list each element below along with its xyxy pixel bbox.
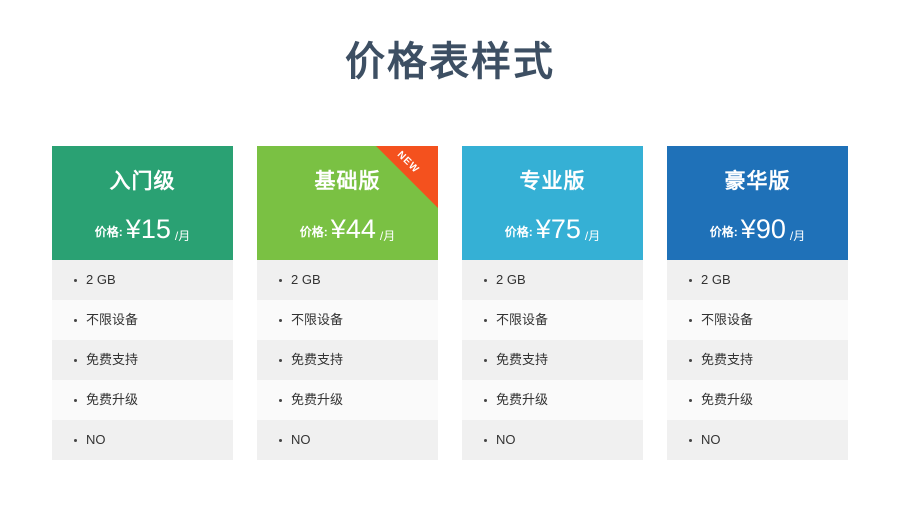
feature-label: 不限设备 xyxy=(86,312,138,327)
bullet-icon xyxy=(279,279,282,282)
price-amount: ¥75 xyxy=(536,214,581,244)
feature-label: NO xyxy=(496,432,516,447)
price-period: /月 xyxy=(585,229,600,243)
price-period: /月 xyxy=(380,229,395,243)
feature-item: 免费升级 xyxy=(52,380,233,420)
feature-label: 2 GB xyxy=(496,272,526,287)
price-amount: ¥15 xyxy=(126,214,171,244)
bullet-icon xyxy=(279,359,282,362)
bullet-icon xyxy=(689,439,692,442)
price-label: 价格: xyxy=(505,225,533,239)
feature-label: NO xyxy=(701,432,721,447)
feature-list: 2 GB 不限设备 免费支持 免费升级 NO xyxy=(462,260,643,460)
feature-label: 免费支持 xyxy=(496,352,548,367)
feature-item: NO xyxy=(667,420,848,460)
bullet-icon xyxy=(279,399,282,402)
price-label: 价格: xyxy=(300,225,328,239)
feature-label: 免费升级 xyxy=(496,392,548,407)
feature-item: 不限设备 xyxy=(52,300,233,340)
plan-price: 价格:¥75/月 xyxy=(462,214,643,245)
pricing-card-basic[interactable]: NEW 基础版 价格:¥44/月 2 GB 不限设备 免费支持 免费升级 NO xyxy=(257,146,438,460)
feature-item: 不限设备 xyxy=(667,300,848,340)
bullet-icon xyxy=(74,359,77,362)
feature-item: 不限设备 xyxy=(257,300,438,340)
bullet-icon xyxy=(689,319,692,322)
bullet-icon xyxy=(74,319,77,322)
bullet-icon xyxy=(74,279,77,282)
bullet-icon xyxy=(689,359,692,362)
feature-label: 免费支持 xyxy=(701,352,753,367)
bullet-icon xyxy=(484,319,487,322)
feature-item: 免费升级 xyxy=(667,380,848,420)
feature-label: 免费升级 xyxy=(701,392,753,407)
card-header: NEW 基础版 价格:¥44/月 xyxy=(257,146,438,260)
price-label: 价格: xyxy=(710,225,738,239)
feature-item: NO xyxy=(257,420,438,460)
bullet-icon xyxy=(484,279,487,282)
feature-label: NO xyxy=(86,432,106,447)
feature-label: 不限设备 xyxy=(291,312,343,327)
feature-item: 2 GB xyxy=(462,260,643,300)
price-amount: ¥90 xyxy=(741,214,786,244)
card-header: 豪华版 价格:¥90/月 xyxy=(667,146,848,260)
bullet-icon xyxy=(74,439,77,442)
feature-list: 2 GB 不限设备 免费支持 免费升级 NO xyxy=(667,260,848,460)
pricing-card-deluxe[interactable]: 豪华版 价格:¥90/月 2 GB 不限设备 免费支持 免费升级 NO xyxy=(667,146,848,460)
feature-list: 2 GB 不限设备 免费支持 免费升级 NO xyxy=(52,260,233,460)
feature-item: NO xyxy=(462,420,643,460)
bullet-icon xyxy=(689,279,692,282)
page-title: 价格表样式 xyxy=(0,36,900,88)
bullet-icon xyxy=(689,399,692,402)
feature-item: 免费支持 xyxy=(462,340,643,380)
pricing-card-professional[interactable]: 专业版 价格:¥75/月 2 GB 不限设备 免费支持 免费升级 NO xyxy=(462,146,643,460)
feature-item: 2 GB xyxy=(667,260,848,300)
new-ribbon-icon xyxy=(376,146,438,208)
pricing-card-entry[interactable]: 入门级 价格:¥15/月 2 GB 不限设备 免费支持 免费升级 NO xyxy=(52,146,233,460)
feature-label: 不限设备 xyxy=(496,312,548,327)
bullet-icon xyxy=(484,439,487,442)
feature-item: 免费支持 xyxy=(52,340,233,380)
price-period: /月 xyxy=(175,229,190,243)
feature-label: 免费升级 xyxy=(291,392,343,407)
plan-name: 豪华版 xyxy=(667,168,848,196)
plan-price: 价格:¥15/月 xyxy=(52,214,233,245)
feature-label: 免费支持 xyxy=(291,352,343,367)
feature-item: 免费支持 xyxy=(667,340,848,380)
feature-label: 不限设备 xyxy=(701,312,753,327)
plan-price: 价格:¥44/月 xyxy=(257,214,438,245)
bullet-icon xyxy=(279,439,282,442)
feature-label: 2 GB xyxy=(701,272,731,287)
bullet-icon xyxy=(74,399,77,402)
feature-item: 不限设备 xyxy=(462,300,643,340)
feature-label: 2 GB xyxy=(291,272,321,287)
feature-item: 2 GB xyxy=(257,260,438,300)
price-amount: ¥44 xyxy=(331,214,376,244)
price-period: /月 xyxy=(790,229,805,243)
plan-name: 专业版 xyxy=(462,168,643,196)
feature-label: 免费支持 xyxy=(86,352,138,367)
feature-item: NO xyxy=(52,420,233,460)
price-label: 价格: xyxy=(95,225,123,239)
feature-item: 免费升级 xyxy=(462,380,643,420)
feature-label: NO xyxy=(291,432,311,447)
card-header: 入门级 价格:¥15/月 xyxy=(52,146,233,260)
feature-list: 2 GB 不限设备 免费支持 免费升级 NO xyxy=(257,260,438,460)
feature-item: 免费升级 xyxy=(257,380,438,420)
feature-label: 2 GB xyxy=(86,272,116,287)
bullet-icon xyxy=(279,319,282,322)
plan-price: 价格:¥90/月 xyxy=(667,214,848,245)
plan-name: 入门级 xyxy=(52,168,233,196)
feature-label: 免费升级 xyxy=(86,392,138,407)
card-header: 专业版 价格:¥75/月 xyxy=(462,146,643,260)
pricing-table: 入门级 价格:¥15/月 2 GB 不限设备 免费支持 免费升级 NO NEW … xyxy=(52,146,848,460)
feature-item: 免费支持 xyxy=(257,340,438,380)
bullet-icon xyxy=(484,399,487,402)
bullet-icon xyxy=(484,359,487,362)
feature-item: 2 GB xyxy=(52,260,233,300)
